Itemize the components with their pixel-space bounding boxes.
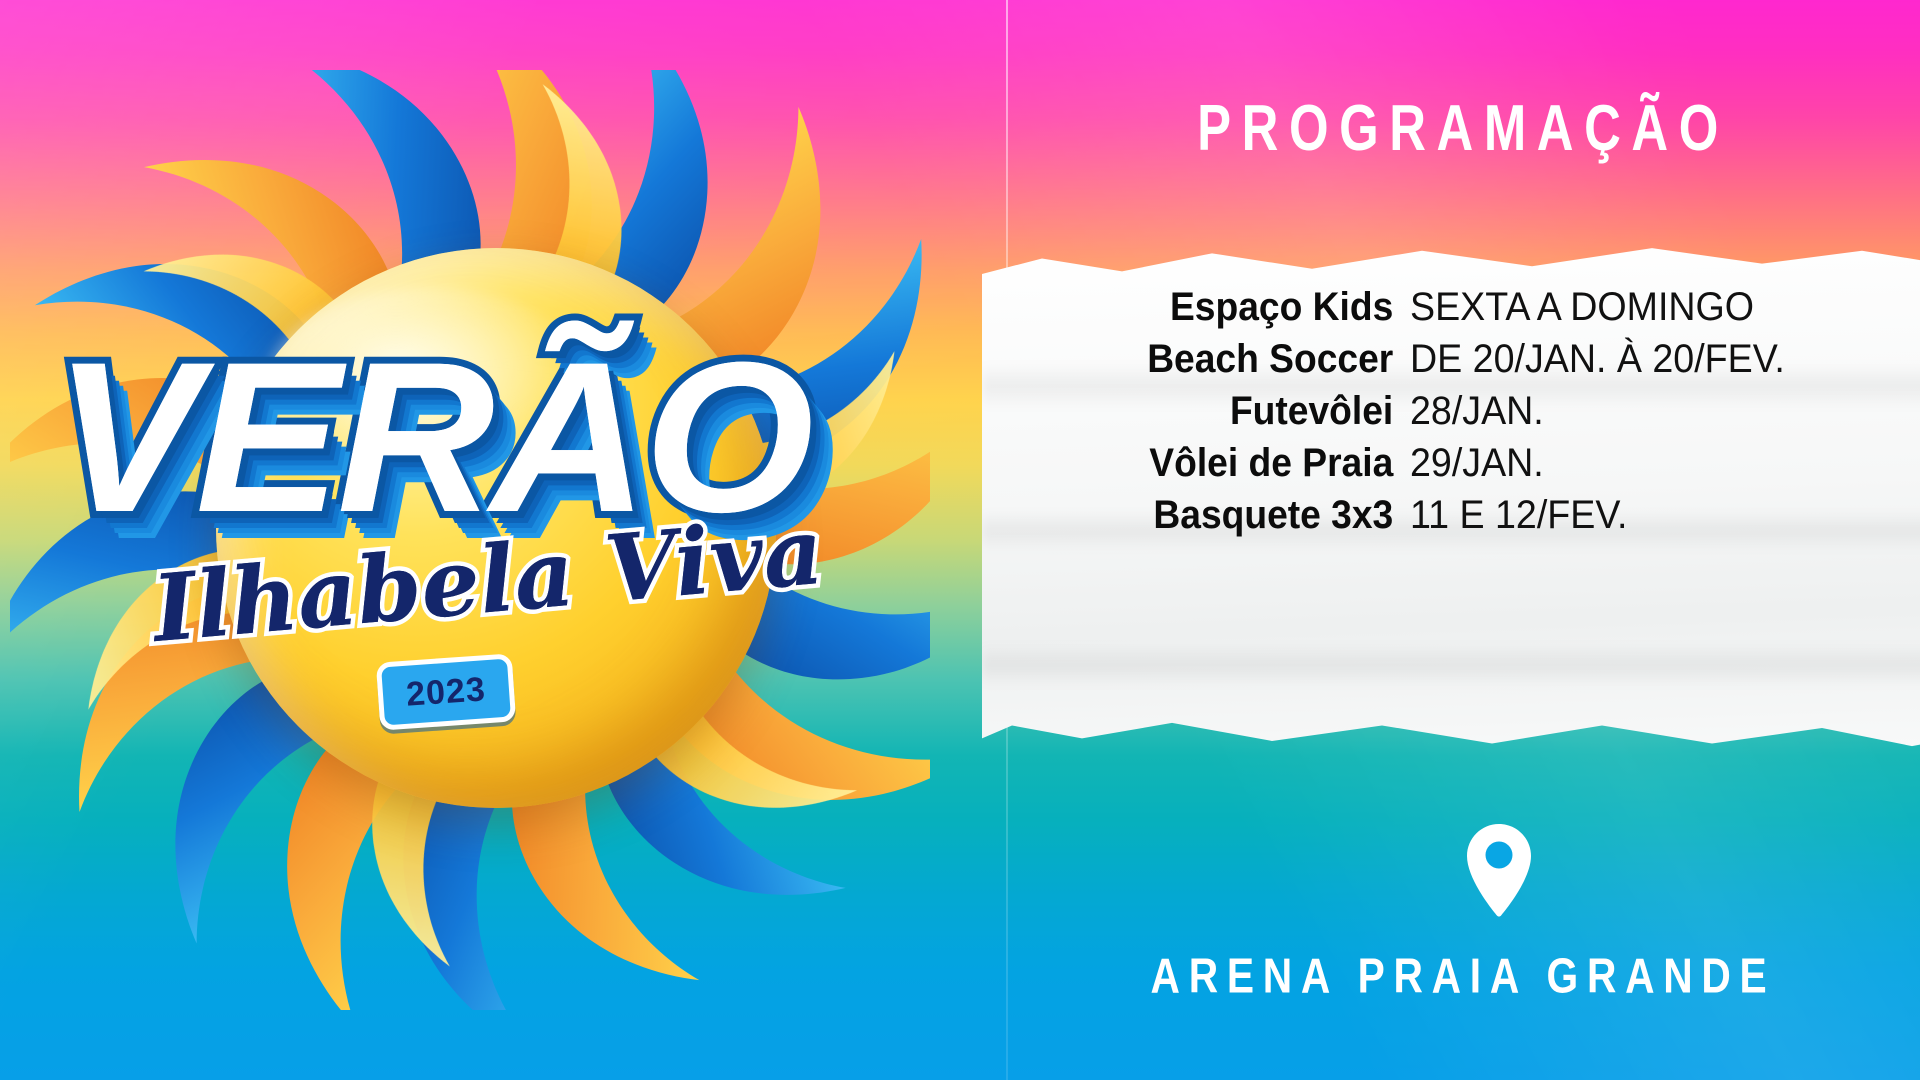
schedule-activity: Beach Soccer: [1034, 337, 1410, 382]
schedule-row: Beach Soccer DE 20/JAN. À 20/FEV.: [1006, 337, 1920, 389]
schedule-activity: Espaço Kids: [1034, 285, 1410, 330]
schedule-activity: Vôlei de Praia: [1034, 441, 1410, 486]
event-poster: VERÃO VERÃO Ilhabela Viva Ilhabela Viva …: [0, 0, 1920, 1080]
logo-year-badge: 2023: [376, 653, 516, 730]
schedule-row: Basquete 3x3 11 E 12/FEV.: [1006, 493, 1920, 545]
schedule-dates: 11 E 12/FEV.: [1410, 493, 1889, 538]
schedule-list: Espaço Kids SEXTA A DOMINGO Beach Soccer…: [1006, 285, 1920, 545]
paper-crease: [982, 643, 1920, 687]
schedule-row: Espaço Kids SEXTA A DOMINGO: [1006, 285, 1920, 337]
logo-year-label: 2023: [405, 670, 487, 714]
schedule-activity: Futevôlei: [1034, 389, 1410, 434]
program-heading: PROGRAMAÇÃO: [1024, 91, 1901, 165]
venue-name: ARENA PRAIA GRANDE: [1020, 948, 1907, 1005]
sun-logo-group: VERÃO VERÃO Ilhabela Viva Ilhabela Viva …: [10, 70, 930, 1010]
schedule-dates: 29/JAN.: [1410, 441, 1889, 486]
schedule-row: Futevôlei 28/JAN.: [1006, 389, 1920, 441]
schedule-row: Vôlei de Praia 29/JAN.: [1006, 441, 1920, 493]
program-panel: PROGRAMAÇÃO Espaço Kids SEXTA A DOMINGO …: [1006, 0, 1920, 1080]
schedule-dates: SEXTA A DOMINGO: [1410, 285, 1889, 330]
map-pin-icon: [1463, 822, 1535, 918]
schedule-dates: 28/JAN.: [1410, 389, 1889, 434]
logo-wordmark: VERÃO VERÃO Ilhabela Viva Ilhabela Viva …: [62, 338, 862, 738]
schedule-activity: Basquete 3x3: [1034, 493, 1410, 538]
schedule-dates: DE 20/JAN. À 20/FEV.: [1410, 337, 1889, 382]
